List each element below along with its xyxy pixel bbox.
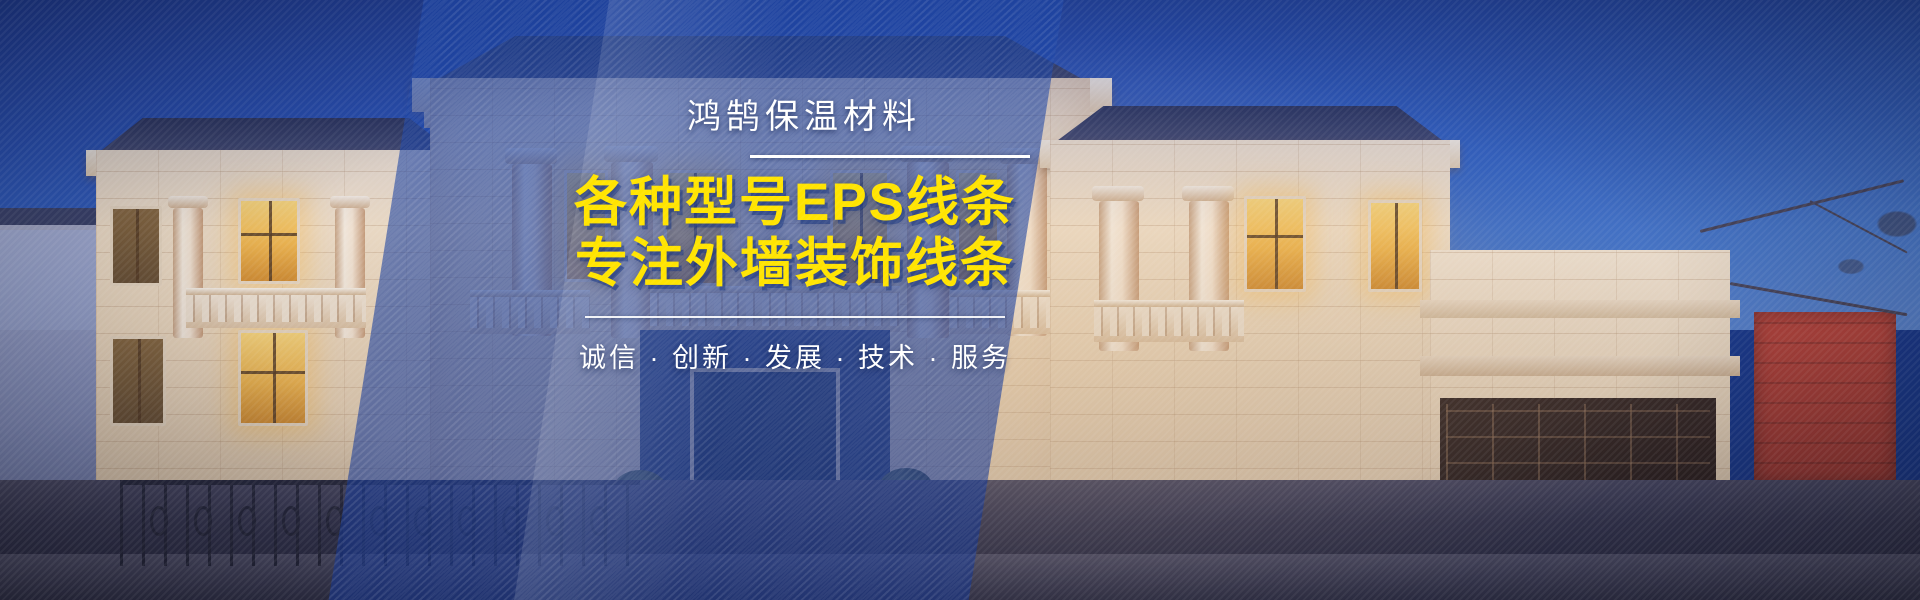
tagline: 诚信 · 创新 · 发展 · 技术 · 服务 bbox=[560, 336, 1030, 375]
tagline-divider bbox=[585, 316, 1005, 318]
banner-copy: 鸿鹄保温材料 各种型号EPS线条 专注外墙装饰线条 诚信 · 创新 · 发展 ·… bbox=[560, 96, 1030, 375]
headline-line-2: 专注外墙装饰线条 bbox=[560, 233, 1030, 294]
brand-divider bbox=[750, 155, 1030, 158]
brand-name: 鸿鹄保温材料 bbox=[560, 96, 1030, 139]
hero-banner: 鸿鹄保温材料 各种型号EPS线条 专注外墙装饰线条 诚信 · 创新 · 发展 ·… bbox=[0, 0, 1920, 600]
headline-line-1: 各种型号EPS线条 bbox=[560, 172, 1030, 233]
